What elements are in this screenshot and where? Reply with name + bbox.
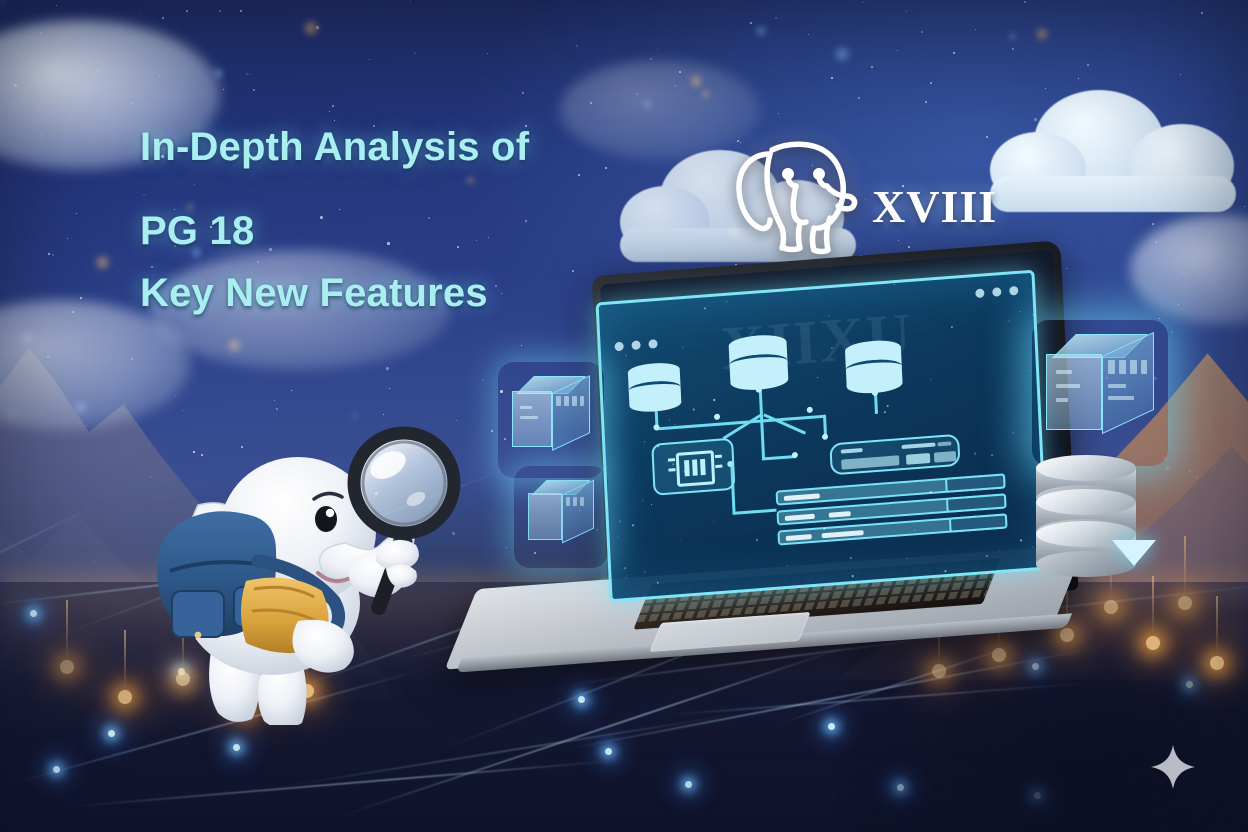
page-title-line-3: Key New Features [140,270,610,316]
page-title-line-1: In-Depth Analysis of [140,124,610,170]
hero-illustration: In-Depth Analysis of PG 18 Key New Featu… [0,0,1248,832]
elephant-mascot [150,395,480,725]
data-cube-left-upper [512,376,590,464]
laptop-screen: XIIXU [596,270,1049,603]
data-cube-left-lower [528,480,594,554]
download-arrow-icon [1112,540,1156,566]
page-title-line-2: PG 18 [140,208,610,254]
version-roman-numeral: XVIII [872,180,997,233]
sparkle-icon [1150,744,1196,790]
cloud-right [990,90,1240,220]
postgresql-elephant-icon [726,128,866,256]
title-block: In-Depth Analysis of PG 18 Key New Featu… [140,124,610,316]
data-cube-right [1046,334,1154,452]
